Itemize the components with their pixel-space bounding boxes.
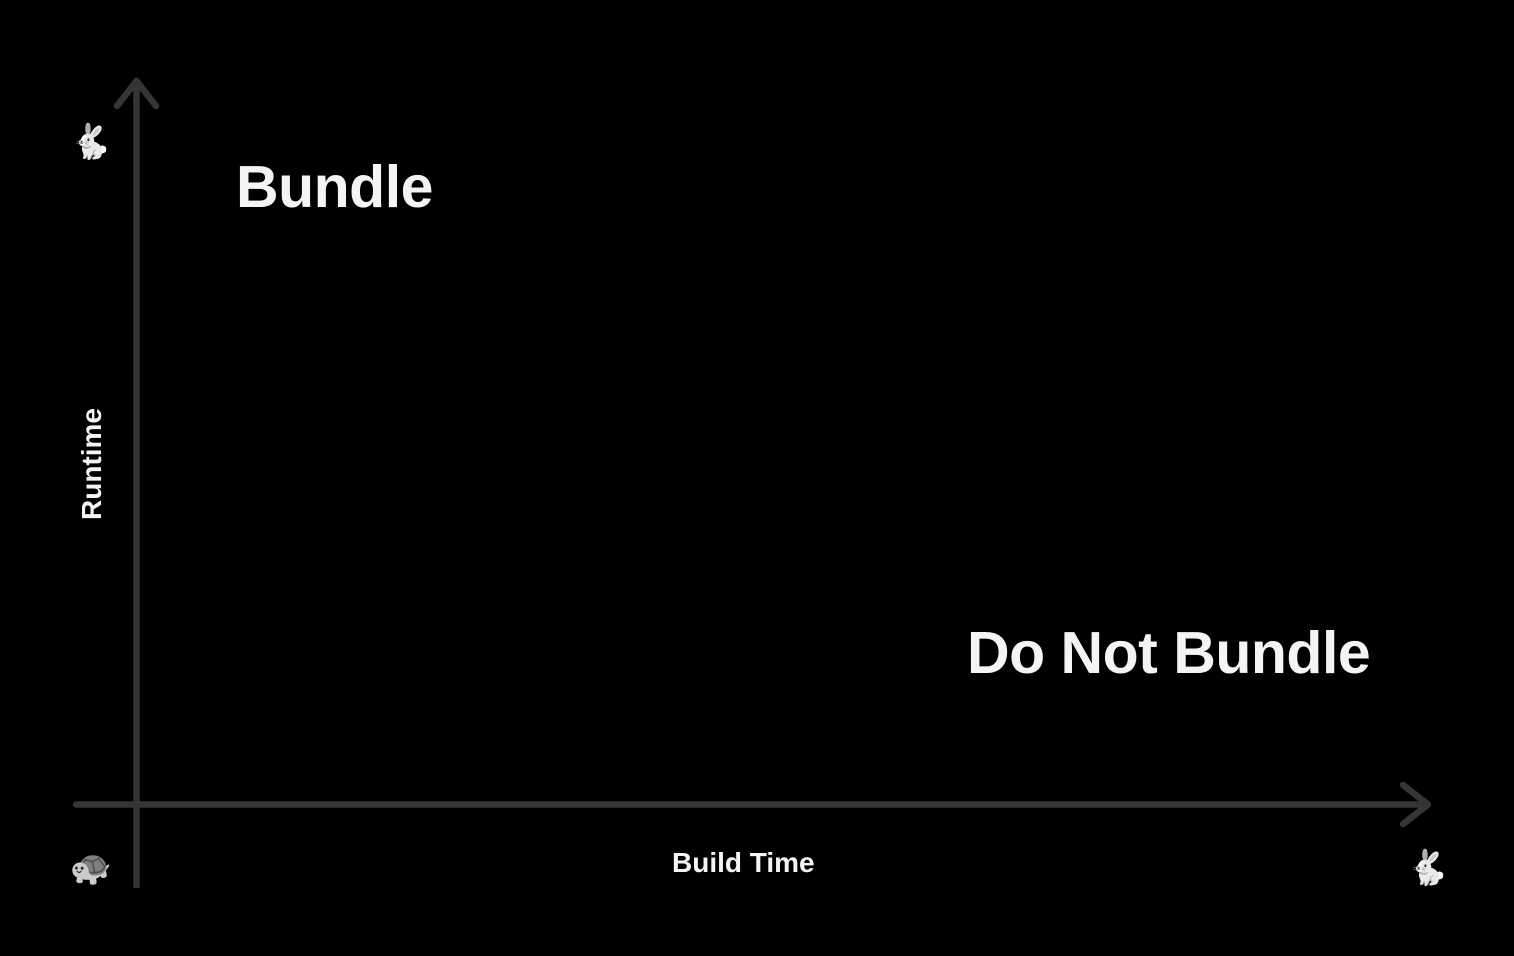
rabbit-icon: 🐇 (69, 120, 113, 164)
quadrant-label-do-not-bundle: Do Not Bundle (967, 624, 1370, 683)
diagram-canvas: Bundle Do Not Bundle Runtime Build Time … (0, 0, 1514, 956)
quadrant-label-bundle: Bundle (236, 158, 433, 217)
x-axis-arrowhead-icon (1403, 785, 1428, 824)
rabbit-icon: 🐇 (1406, 846, 1450, 890)
turtle-icon: 🐢 (69, 846, 113, 890)
y-axis-title: Runtime (78, 408, 106, 520)
y-axis-arrowhead-icon (117, 81, 156, 106)
axes-group (0, 0, 1514, 956)
x-axis-title: Build Time (672, 849, 815, 877)
